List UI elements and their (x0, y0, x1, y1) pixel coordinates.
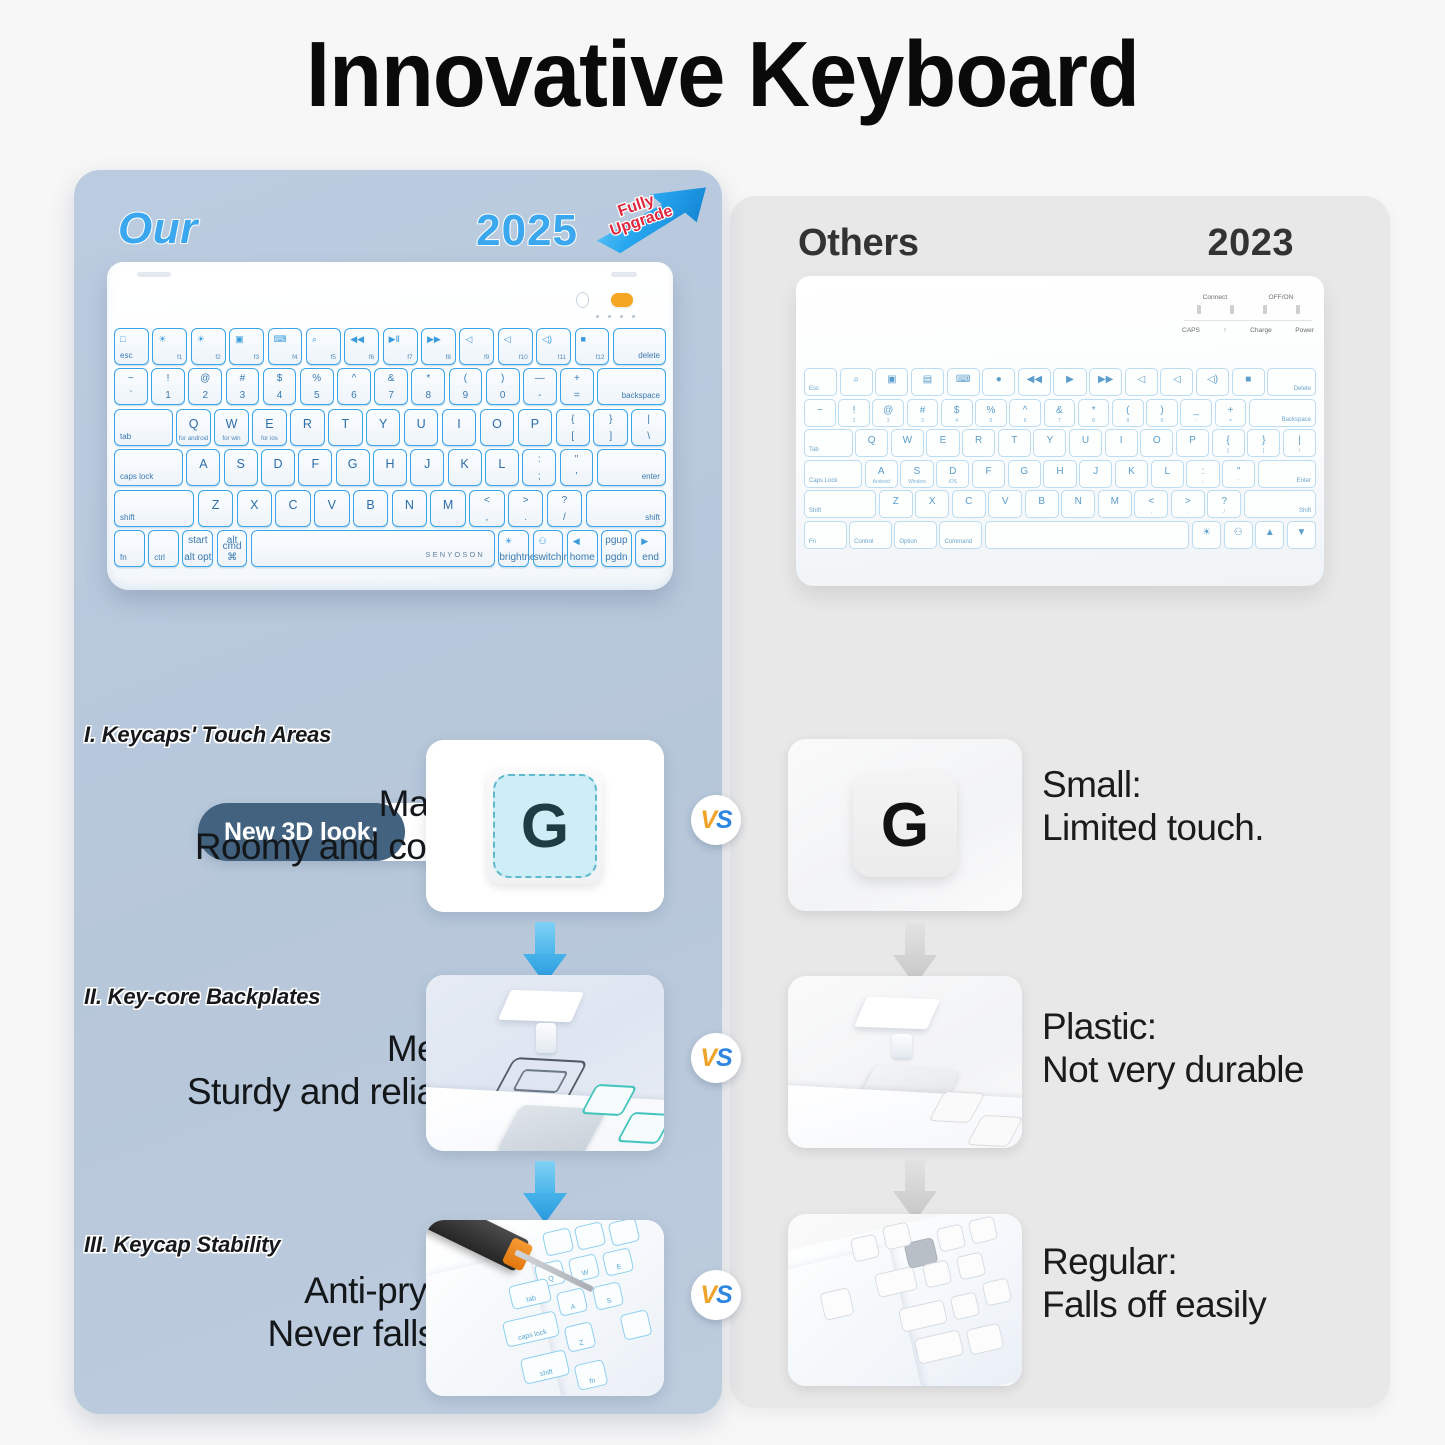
key-p[interactable]: P (1176, 429, 1209, 457)
key-switch-icon[interactable]: ⚇switching (533, 530, 564, 567)
legend-power: Power (1295, 327, 1314, 334)
others-tile-stability (788, 1214, 1022, 1386)
key-g[interactable]: G (1008, 460, 1041, 488)
search-icon: ⌕ (841, 374, 872, 385)
our-label: Our (118, 204, 198, 254)
key-rewind-icon[interactable]: ◀◀f6 (344, 328, 379, 365)
play-pause-icon: ▶Ⅱ (389, 334, 400, 345)
others-feature-1-text: Small: Limited touch. (1042, 764, 1402, 850)
our-keyboard-photo: Q W E tab A S caps lock Z shift fn (426, 1220, 664, 1396)
key-t[interactable]: T (998, 429, 1031, 457)
key-y[interactable]: Y (366, 409, 401, 446)
key-2[interactable]: @2 (188, 368, 222, 405)
app-icon: ▤ (912, 374, 943, 385)
key-app-icon[interactable]: ▤ (911, 368, 944, 396)
key-x[interactable]: X (915, 490, 949, 518)
key-5[interactable]: %5 (300, 368, 334, 405)
key-y[interactable]: Y (1033, 429, 1066, 457)
key-row: ~`!1@2#3$4%5^6&7*8(9)0—-+=backspace (114, 368, 666, 405)
key-w[interactable]: Wfor win (214, 409, 249, 446)
key-9[interactable]: (9 (1112, 399, 1144, 427)
others-year: 2023 (1207, 222, 1294, 265)
key-b[interactable]: B (1025, 490, 1059, 518)
our-tile-touch-area: G (426, 740, 664, 912)
key-[interactable]: += (1215, 399, 1247, 427)
others-feature-2-headline: Plastic: (1042, 1006, 1402, 1049)
led-dots (596, 315, 635, 318)
key-control[interactable]: Control (849, 521, 892, 549)
vol-down-icon: ◁ (1161, 374, 1192, 385)
key-s[interactable]: SWindow (900, 460, 933, 488)
legend-charge: Charge (1250, 327, 1272, 334)
legend-connect: Connect (1203, 294, 1228, 301)
key-[interactable]: {[ (1212, 429, 1245, 457)
keyboard-icon: ⌨ (948, 374, 979, 385)
key-fn[interactable]: fn (114, 530, 145, 567)
key-lock-icon[interactable]: ■f12 (575, 328, 610, 365)
key-search-icon[interactable]: ⌕f5 (306, 328, 341, 365)
key-command[interactable]: Command (939, 521, 982, 549)
key-prev-icon[interactable]: ◀◀ (1018, 368, 1051, 396)
up-arrow-icon: ▲ (1256, 527, 1283, 538)
key-a[interactable]: AAndroid (865, 460, 898, 488)
key-e[interactable]: E (926, 429, 959, 457)
play-icon: ▶ (1054, 374, 1085, 385)
key-l[interactable]: L (485, 449, 519, 486)
key-lock-icon[interactable]: ■ (1232, 368, 1265, 396)
key-4[interactable]: $4 (941, 399, 973, 427)
key-q[interactable]: Qfor android (176, 409, 211, 446)
key-3[interactable]: #3 (907, 399, 939, 427)
legend-bluetooth-icon: ↑ (1223, 327, 1226, 334)
key-g[interactable]: G (336, 449, 370, 486)
key-[interactable]: ?/ (547, 490, 582, 527)
key-n[interactable]: N (1061, 490, 1095, 518)
key-c[interactable]: C (952, 490, 986, 518)
others-key-grid: Esc⌕▣▤⌨●◀◀▶▶▶◁◁◁)■Delete~`!1@2#3$4%5^6&7… (804, 368, 1316, 552)
our-key-grid: □esc☀f1☀f2▣f3⌨f4⌕f5◀◀f6▶Ⅱf7▶▶f8◁f9◁f10◁)… (114, 328, 666, 570)
key-[interactable]: "' (560, 449, 594, 486)
key-vol-up-icon[interactable]: ◁) (1196, 368, 1229, 396)
key-s[interactable]: S (224, 449, 258, 486)
key-i[interactable]: I (442, 409, 477, 446)
key-h[interactable]: H (1043, 460, 1076, 488)
brightness-down-icon: ☀ (158, 334, 166, 345)
key-delete[interactable]: delete (613, 328, 666, 365)
others-key-g-glyph: G (881, 790, 929, 861)
key-k[interactable]: K (448, 449, 482, 486)
right-arrow-icon: ▶ (641, 536, 648, 547)
key-brightness-icon[interactable]: ☀ (1192, 521, 1221, 549)
key-row: fnctrlstartalt optaltcmd ⌘SENYOSON☀brigh… (114, 530, 666, 567)
key-[interactable]: "' (1222, 460, 1255, 488)
lock-icon: ■ (1233, 374, 1264, 385)
key-1[interactable]: !1 (151, 368, 185, 405)
screen-icon: ▣ (235, 334, 244, 345)
key-v[interactable]: V (988, 490, 1022, 518)
others-feature-3-headline: Regular: (1042, 1241, 1402, 1284)
others-indicator-legends: Connect OFF/ON CAPS ↑ Charge Power (1182, 294, 1314, 334)
our-arrow-2-icon (523, 1161, 567, 1223)
key-vol-down-icon[interactable]: ◁ (1160, 368, 1193, 396)
key-u[interactable]: U (1069, 429, 1102, 457)
key-option[interactable]: Option (894, 521, 937, 549)
others-feature-2-detail: Not very durable (1042, 1049, 1402, 1092)
key-7[interactable]: &7 (374, 368, 408, 405)
indicator-leds (1182, 305, 1314, 314)
key-delete[interactable]: Delete (1267, 368, 1316, 396)
key-f[interactable]: F (298, 449, 332, 486)
key-esc[interactable]: □esc (114, 328, 149, 365)
key-1[interactable]: !1 (838, 399, 870, 427)
key-[interactable]: >. (1171, 490, 1205, 518)
vs-right-letter: S (716, 1044, 732, 1073)
key-9[interactable]: (9 (449, 368, 483, 405)
volume-up-icon: ◁) (542, 334, 552, 345)
key-r[interactable]: R (962, 429, 995, 457)
forward-icon: ▶▶ (427, 334, 441, 345)
key-3[interactable]: #3 (226, 368, 260, 405)
brightness-icon: ☀ (1193, 527, 1220, 538)
key-backspace[interactable]: Backspace (1249, 399, 1316, 427)
key-0[interactable]: )0 (1146, 399, 1178, 427)
brightness-up-icon: ☀ (197, 334, 205, 345)
switch-icon: ⚇ (1225, 527, 1252, 538)
key-pguppgdn[interactable]: pguppgdn (601, 530, 632, 567)
legend-caps: CAPS (1182, 327, 1200, 334)
key-b[interactable]: B (353, 490, 388, 527)
vs-right-letter: S (716, 806, 732, 835)
key-altcmd[interactable]: altcmd ⌘ (217, 530, 248, 567)
key-h[interactable]: H (373, 449, 407, 486)
key-row: FnControlOptionCommand☀⚇▲▼ (804, 521, 1316, 549)
key-shift[interactable]: shift (114, 490, 194, 527)
key-d[interactable]: DiOS (936, 460, 969, 488)
key-a[interactable]: A (186, 449, 220, 486)
vs-left-letter: V (700, 1281, 716, 1310)
key-play-icon[interactable]: ▶ (1053, 368, 1086, 396)
key-mute-icon[interactable]: ◁ (1125, 368, 1158, 396)
key-l[interactable]: L (1151, 460, 1184, 488)
key-enter[interactable]: enter (597, 449, 666, 486)
key-mic-icon[interactable]: ● (982, 368, 1015, 396)
others-arrow-2-icon (893, 1159, 937, 1221)
key-screen-icon[interactable]: ▣ (875, 368, 908, 396)
key-[interactable]: >. (508, 490, 543, 527)
key-t[interactable]: T (328, 409, 363, 446)
key-row: tabQfor androidWfor winEfor iosRTYUIOP{[… (114, 409, 666, 446)
key-2[interactable]: @2 (872, 399, 904, 427)
key-screen-icon[interactable]: ▣f3 (229, 328, 264, 365)
mute-icon: ◁ (1126, 374, 1157, 385)
key-5[interactable]: %5 (975, 399, 1007, 427)
key-shift[interactable]: shift (586, 490, 666, 527)
key-volume-up-icon[interactable]: ◁)f11 (536, 328, 571, 365)
key-[interactable]: <, (469, 490, 504, 527)
key-switch-icon[interactable]: ⚇ (1224, 521, 1253, 549)
key-[interactable]: :; (522, 449, 556, 486)
key-brightness-down-icon[interactable]: ☀f1 (152, 328, 187, 365)
key-keyboard-icon[interactable]: ⌨ (947, 368, 980, 396)
key-6[interactable]: ^6 (337, 368, 371, 405)
lock-icon: ■ (581, 334, 586, 344)
key-4[interactable]: $4 (263, 368, 297, 405)
key-right-arrow-icon[interactable]: ▶end (635, 530, 666, 567)
vs-right-letter: S (716, 1281, 732, 1310)
key-i[interactable]: I (1105, 429, 1138, 457)
left-arrow-icon: ◀ (573, 536, 580, 547)
key-j[interactable]: J (410, 449, 444, 486)
key-play-pause-icon[interactable]: ▶Ⅱf7 (383, 328, 418, 365)
mute-icon: ◁ (465, 334, 472, 345)
key-spacebar[interactable]: SENYOSON (251, 530, 495, 567)
key-row: caps lockASDFGHJKL:;"'enter (114, 449, 666, 486)
key-v[interactable]: V (314, 490, 349, 527)
key-shift[interactable]: Shift (804, 490, 876, 518)
keyboard-top-bar (107, 262, 673, 324)
key-[interactable]: }] (593, 409, 628, 446)
vs-badge-2: VS (691, 1033, 741, 1083)
others-panel: Others 2023 Connect OFF/ON CAPS ↑ Charge… (730, 196, 1390, 1408)
stop-icon: □ (120, 334, 125, 344)
key-d[interactable]: D (261, 449, 295, 486)
key-j[interactable]: J (1079, 460, 1112, 488)
others-feature-3-detail: Falls off easily (1042, 1284, 1402, 1327)
key-e[interactable]: Efor ios (252, 409, 287, 446)
our-year: 2025 (476, 206, 578, 256)
others-feature-2-text: Plastic: Not very durable (1042, 1006, 1402, 1092)
key-c[interactable]: C (275, 490, 310, 527)
key-up-arrow-icon[interactable]: ▲ (1255, 521, 1284, 549)
key-down-arrow-icon[interactable]: ▼ (1287, 521, 1316, 549)
key-row: shiftZXCVBNM<,>.?/shift (114, 490, 666, 527)
fully-upgrade-badge: Fully Upgrade (590, 186, 706, 256)
others-tile-touch-area: G (788, 739, 1022, 911)
others-key-g: G (853, 773, 957, 877)
key-p[interactable]: P (518, 409, 553, 446)
key-shift[interactable]: Shift (1244, 490, 1316, 518)
others-feature-3-text: Regular: Falls off easily (1042, 1241, 1402, 1327)
screen-icon: ▣ (876, 374, 907, 385)
key-o[interactable]: O (1140, 429, 1173, 457)
brightness-icon: ☀ (504, 536, 512, 547)
status-ring-icon (576, 292, 589, 308)
key-8[interactable]: *8 (411, 368, 445, 405)
our-tile-backplate (426, 975, 664, 1151)
others-keyboard-image: Connect OFF/ON CAPS ↑ Charge Power Esc⌕▣… (796, 276, 1324, 586)
key-[interactable]: _- (1180, 399, 1212, 427)
brand-name: SENYOSON (425, 550, 485, 559)
our-keyboard-image: □esc☀f1☀f2▣f3⌨f4⌕f5◀◀f6▶Ⅱf7▶▶f8◁f9◁f10◁)… (107, 262, 673, 590)
key-brightness-icon[interactable]: ☀brightness (498, 530, 529, 567)
key-m[interactable]: M (1098, 490, 1132, 518)
key-z[interactable]: Z (879, 490, 913, 518)
key-row: Esc⌕▣▤⌨●◀◀▶▶▶◁◁◁)■Delete (804, 368, 1316, 396)
key-[interactable]: ?/ (1207, 490, 1241, 518)
key-mute-icon[interactable]: ◁f9 (459, 328, 494, 365)
key-f[interactable]: F (972, 460, 1005, 488)
key-tab[interactable]: tab (114, 409, 173, 446)
key-n[interactable]: N (392, 490, 427, 527)
vs-left-letter: V (700, 1044, 716, 1073)
switch-icon: ⚇ (539, 536, 547, 547)
key-row: □esc☀f1☀f2▣f3⌨f4⌕f5◀◀f6▶Ⅱf7▶▶f8◁f9◁f10◁)… (114, 328, 666, 365)
feature-3-roman-label: III. Keycap Stability (84, 1232, 280, 1258)
key-row: ShiftZXCVBNM<,>.?/Shift (804, 490, 1316, 518)
key-fn[interactable]: Fn (804, 521, 847, 549)
our-key-g-glyph: G (521, 791, 569, 862)
our-tile-stability: Q W E tab A S caps lock Z shift fn (426, 1220, 664, 1396)
key-keyboard-icon[interactable]: ⌨f4 (268, 328, 303, 365)
vs-left-letter: V (700, 806, 716, 835)
others-label: Others (798, 222, 919, 265)
keyboard-icon: ⌨ (274, 334, 287, 345)
key-6[interactable]: ^6 (1009, 399, 1041, 427)
key-space[interactable] (985, 521, 1190, 549)
prev-icon: ◀◀ (1019, 374, 1050, 385)
volume-down-icon: ◁ (504, 334, 511, 345)
feature-1-roman-label: I. Keycaps' Touch Areas (84, 722, 331, 748)
key-brightness-up-icon[interactable]: ☀f2 (191, 328, 226, 365)
key-backspace[interactable]: backspace (597, 368, 666, 405)
key-[interactable]: }] (1247, 429, 1280, 457)
others-feature-1-headline: Small: (1042, 764, 1402, 807)
key-forward-icon[interactable]: ▶▶f8 (421, 328, 456, 365)
legend-offon: OFF/ON (1268, 294, 1293, 301)
others-feature-1-detail: Limited touch. (1042, 807, 1402, 850)
others-tile-backplate (788, 976, 1022, 1148)
key-startalt-opt[interactable]: startalt opt (182, 530, 213, 567)
key-search-icon[interactable]: ⌕ (840, 368, 873, 396)
key-8[interactable]: *8 (1078, 399, 1110, 427)
key-[interactable]: |\ (631, 409, 666, 446)
key-enter[interactable]: Enter (1258, 460, 1316, 488)
key-row: Caps LockAAndroidSWindowDiOSFGHJKL:;"'En… (804, 460, 1316, 488)
vs-badge-1: VS (691, 795, 741, 845)
key-[interactable]: |\ (1283, 429, 1316, 457)
search-icon: ⌕ (312, 334, 317, 345)
mic-icon: ● (983, 374, 1014, 385)
key-m[interactable]: M (430, 490, 465, 527)
key-ctrl[interactable]: ctrl (148, 530, 179, 567)
key-next-icon[interactable]: ▶▶ (1089, 368, 1122, 396)
our-panel: Our 2025 Fully Upgrade □esc☀f1☀f2▣f3⌨f4⌕… (74, 170, 722, 1414)
key-[interactable]: ~` (114, 368, 148, 405)
key-esc[interactable]: Esc (804, 368, 837, 396)
key-w[interactable]: W (891, 429, 924, 457)
key-q[interactable]: Q (855, 429, 888, 457)
feature-2-roman-label: II. Key-core Backplates (84, 984, 320, 1010)
key-[interactable]: ~` (804, 399, 836, 427)
key-row: TabQWERTYUIOP{[}]|\ (804, 429, 1316, 457)
rewind-icon: ◀◀ (350, 334, 364, 345)
key-k[interactable]: K (1115, 460, 1148, 488)
key-u[interactable]: U (404, 409, 439, 446)
infographic-page: Innovative Keyboard Others 2023 Connect … (0, 0, 1445, 1445)
page-title: Innovative Keyboard (51, 26, 1395, 124)
others-keyboard-photo (788, 1214, 1022, 1386)
key-left-arrow-icon[interactable]: ◀home (567, 530, 598, 567)
key-tab[interactable]: Tab (804, 429, 853, 457)
key-o[interactable]: O (480, 409, 515, 446)
key-[interactable]: :; (1186, 460, 1219, 488)
key-caps-lock[interactable]: Caps Lock (804, 460, 862, 488)
vol-up-icon: ◁) (1197, 374, 1228, 385)
key-z[interactable]: Z (198, 490, 233, 527)
key-7[interactable]: &7 (1044, 399, 1076, 427)
key-x[interactable]: X (237, 490, 272, 527)
vs-badge-3: VS (691, 1270, 741, 1320)
our-key-g: G (487, 768, 603, 884)
key-r[interactable]: R (290, 409, 325, 446)
key-[interactable]: += (560, 368, 594, 405)
key-[interactable]: {[ (556, 409, 591, 446)
key-0[interactable]: )0 (486, 368, 520, 405)
key-caps-lock[interactable]: caps lock (114, 449, 183, 486)
down-arrow-icon: ▼ (1288, 527, 1315, 538)
key-[interactable]: —- (523, 368, 557, 405)
power-indicator-icon (611, 293, 633, 307)
next-icon: ▶▶ (1090, 374, 1121, 385)
key-volume-down-icon[interactable]: ◁f10 (498, 328, 533, 365)
key-[interactable]: <, (1134, 490, 1168, 518)
key-row: ~`!1@2#3$4%5^6&7*8(9)0_-+=Backspace (804, 399, 1316, 427)
